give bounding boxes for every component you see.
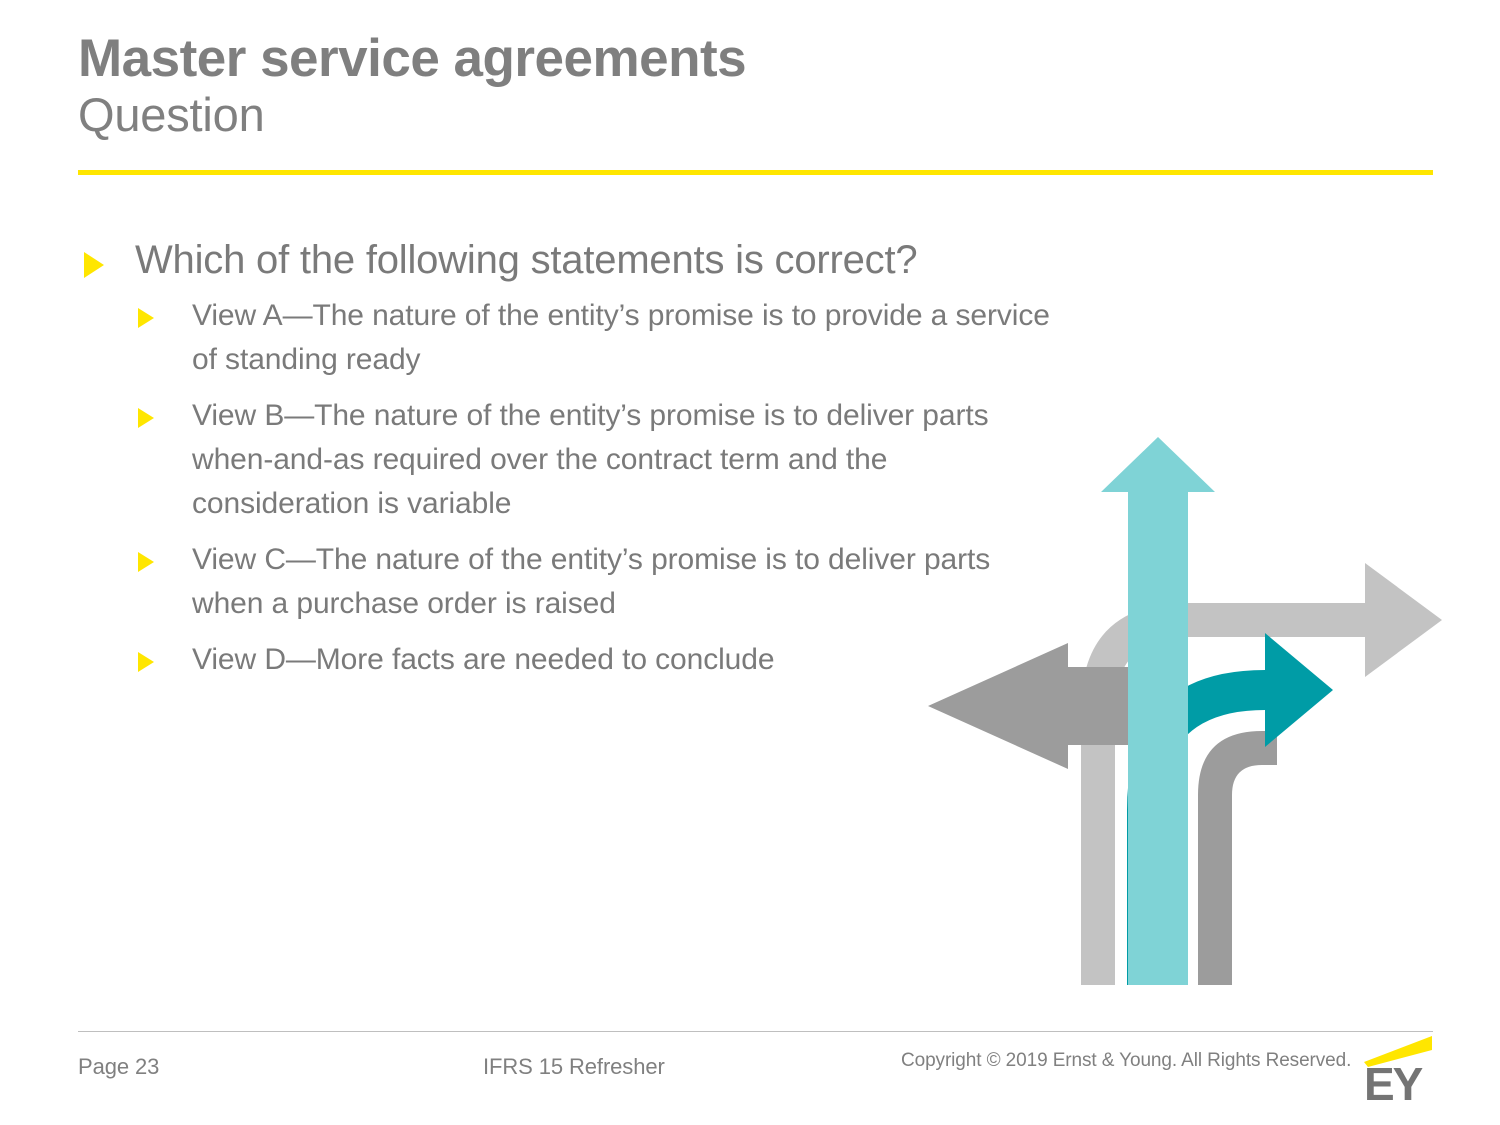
- triangle-bullet-icon: [138, 308, 154, 328]
- page-number: Page 23: [78, 1054, 159, 1080]
- page-title: Master service agreements: [78, 32, 1433, 86]
- triangle-bullet-icon: [138, 408, 154, 428]
- slide: Master service agreements Question Which…: [0, 0, 1500, 1125]
- list-item-view-a: View A—The nature of the entity’s promis…: [78, 294, 1068, 382]
- list-item-label: View A—The nature of the entity’s promis…: [192, 294, 1068, 382]
- list-item-label: View C—The nature of the entity’s promis…: [192, 538, 992, 626]
- ey-logo-text: EY: [1364, 1058, 1423, 1104]
- triangle-bullet-icon: [138, 552, 154, 572]
- ey-logo: EY: [1364, 1036, 1438, 1104]
- curved-gray-ribbon-icon: [1198, 731, 1277, 985]
- multi-direction-arrows-diagram: [905, 435, 1450, 1000]
- list-item-label: View B—The nature of the entity’s promis…: [192, 394, 992, 526]
- triangle-bullet-icon: [138, 652, 154, 672]
- triangle-bullet-icon: [84, 252, 104, 278]
- question-bullet: Which of the following statements is cor…: [78, 236, 1068, 285]
- footer-divider: [78, 1031, 1433, 1032]
- copyright-notice: Copyright © 2019 Ernst & Young. All Righ…: [901, 1050, 1351, 1072]
- title-underline-rule: [78, 170, 1433, 175]
- question-text: Which of the following statements is cor…: [135, 236, 1068, 285]
- page-subtitle: Question: [78, 90, 1433, 141]
- deck-name: IFRS 15 Refresher: [483, 1054, 665, 1080]
- slide-header: Master service agreements Question: [78, 32, 1433, 141]
- list-item-label: View D—More facts are needed to conclude: [192, 638, 792, 682]
